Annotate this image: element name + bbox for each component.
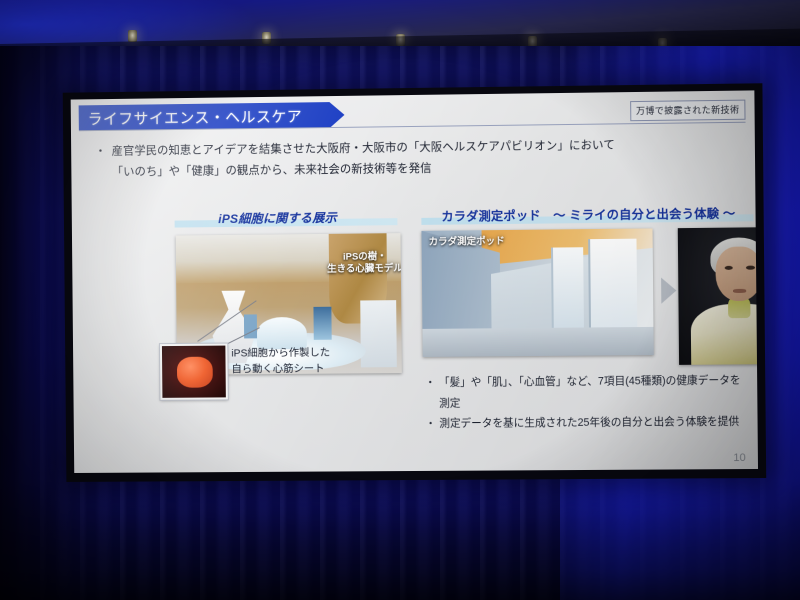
list-item: ・ 「髪」や「肌」、「心血管」など、7項目(45種類)の健康データを測定 (423, 370, 745, 414)
lead-bullet-block: ・ 産官学民の知恵とアイデアを結集させた大阪府・大阪市の「大阪ヘルスケアパビリオ… (95, 134, 733, 183)
inset-photo-caption: iPS細胞から作製した 自ら動く心筋シート (231, 346, 330, 378)
inset-caption-line-1: iPS細胞から作製した (231, 346, 330, 362)
photo-heart-model-dome (257, 317, 307, 350)
ips-photo-caption-line-2: 生きる心臓モデル (295, 263, 402, 277)
page-number: 10 (733, 452, 746, 464)
photo-floor (422, 327, 653, 357)
projection-screen-frame: ライフサイエンス・ヘルスケア 万博で披露された新技術 ・ 産官学民の知恵とアイデ… (63, 83, 766, 482)
bullet-marker: ・ (425, 373, 436, 394)
right-bullet-list: ・ 「髪」や「肌」、「心血管」など、7項目(45種類)の健康データを測定 ・ 測… (423, 370, 746, 435)
photo-display-screen (313, 307, 331, 341)
right-bullet-2: 測定データを基に生成された25年後の自分と出会う体験を提供 (439, 416, 739, 430)
inset-caption-line-2: 自ら動く心筋シート (231, 361, 330, 377)
right-arrow-icon (661, 277, 676, 303)
pod-photo-caption: カラダ測定ポッド (429, 236, 505, 249)
photo-wall-panel (361, 300, 398, 367)
photo-pod-door-a (551, 247, 584, 336)
slide-title: ライフサイエンス・ヘルスケア (79, 105, 303, 129)
avatar-right-eye (746, 266, 755, 270)
slide: ライフサイエンス・ヘルスケア 万博で披露された新技術 ・ 産官学民の知恵とアイデ… (71, 90, 758, 473)
list-item: ・ 測定データを基に生成された25年後の自分と出会う体験を提供 (423, 412, 745, 435)
cardiac-sheet-sample (177, 357, 213, 387)
cardiac-muscle-sheet-photo (160, 344, 228, 400)
right-section-heading: カラダ測定ポッド ～ ミライの自分と出会う体験 ～ (441, 203, 735, 224)
avatar-face (716, 246, 758, 301)
future-self-avatar-photo (678, 227, 758, 365)
header-tag-label: 万博で披露された新技術 (630, 100, 746, 122)
bullet-marker: ・ (95, 142, 107, 163)
avatar-mouth (733, 289, 746, 293)
ceiling-spotlight (128, 30, 137, 42)
floor-shadow (0, 480, 800, 600)
photo-of-projected-slide: ライフサイエンス・ヘルスケア 万博で披露された新技術 ・ 産官学民の知恵とアイデ… (0, 0, 800, 600)
right-bullet-1: 「髪」や「肌」、「心血管」など、7項目(45種類)の健康データを測定 (439, 374, 741, 409)
bullet-marker: ・ (425, 414, 436, 435)
left-section-heading: iPS細胞に関する展示 (218, 208, 337, 227)
karada-pod-corridor-photo: カラダ測定ポッド (421, 228, 653, 356)
ips-photo-caption: iPSの樹・ 生きる心臓モデル (295, 251, 402, 277)
